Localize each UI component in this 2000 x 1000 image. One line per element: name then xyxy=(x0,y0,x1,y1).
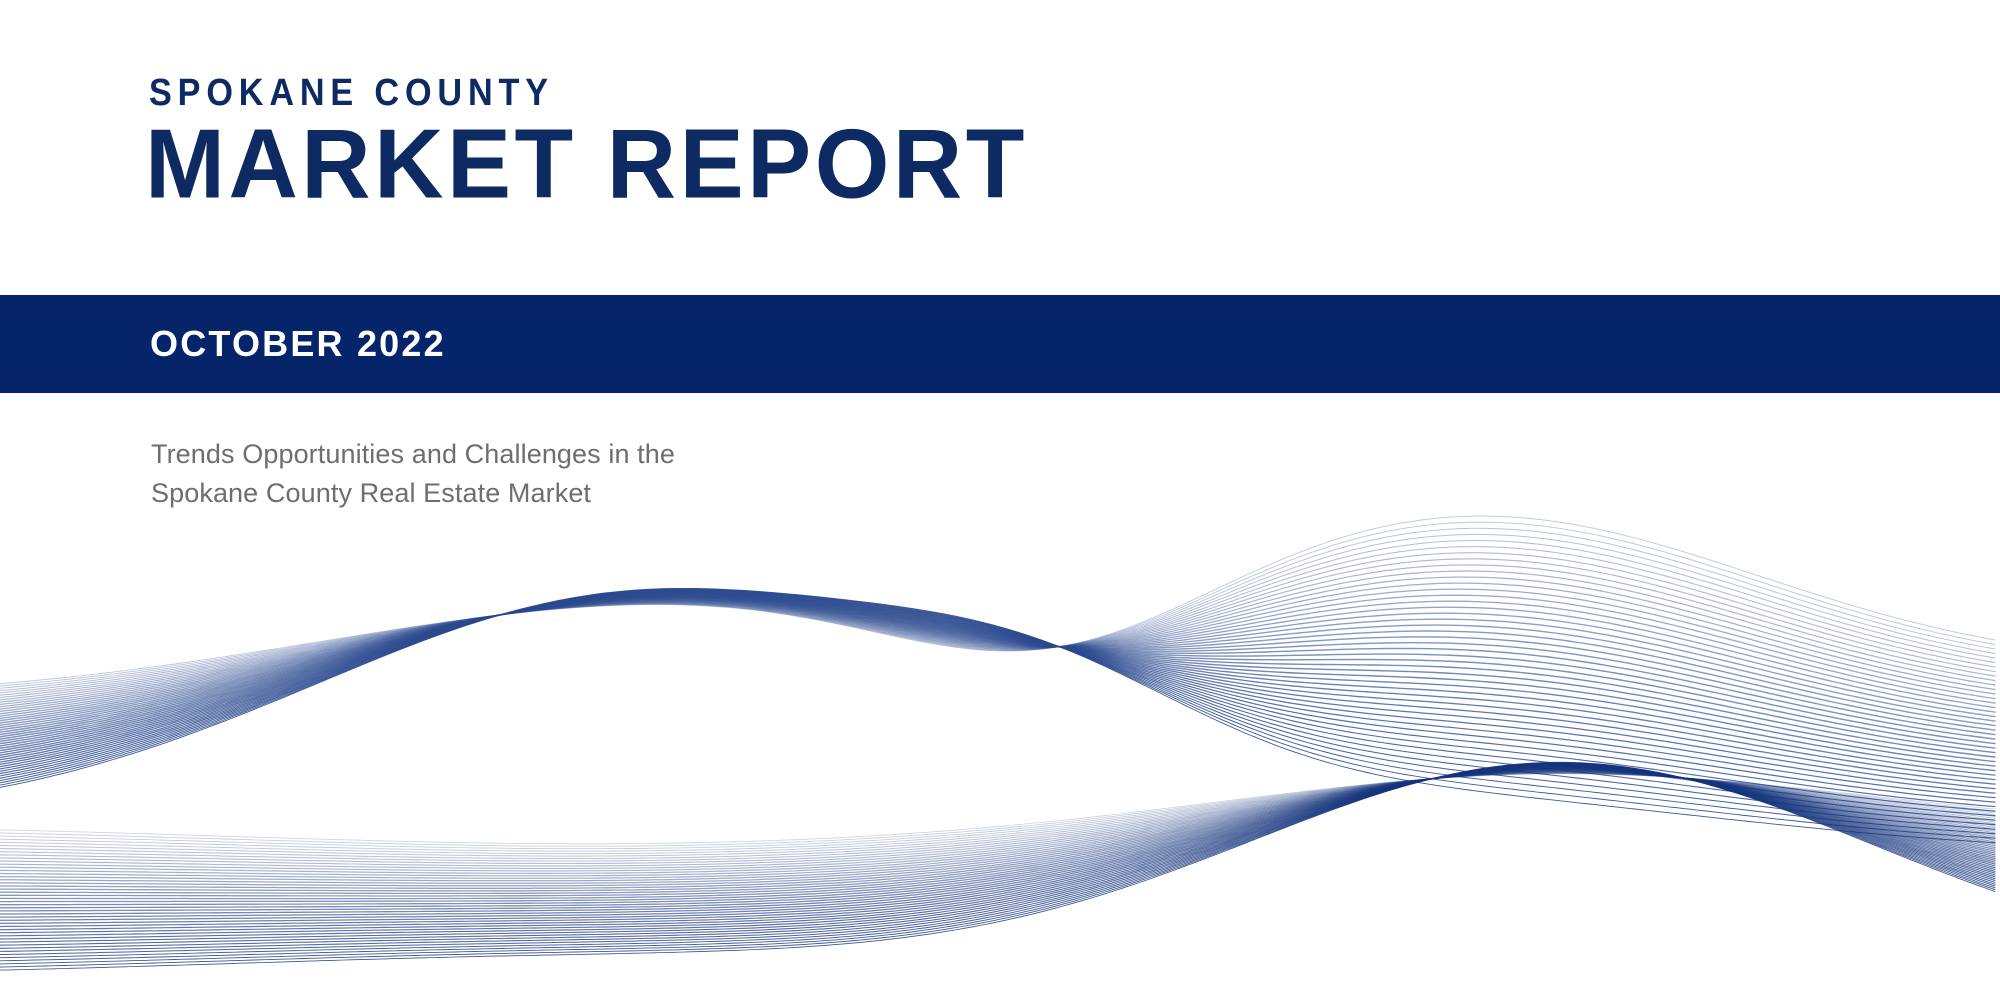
wave-line xyxy=(0,771,1995,865)
wave-line xyxy=(0,583,1995,709)
wave-line xyxy=(0,565,1995,702)
wave-line xyxy=(0,769,1995,885)
wave-line xyxy=(0,765,1995,939)
wave-line xyxy=(0,766,1995,927)
wave-line xyxy=(0,591,1995,806)
wave-line xyxy=(0,772,1995,861)
wave-line xyxy=(0,766,1995,923)
wave-line xyxy=(0,771,1995,868)
wave-line xyxy=(0,598,1995,725)
abstract-wave-lines-graphic xyxy=(0,430,2000,1000)
wave-line xyxy=(0,600,1995,716)
wave-line xyxy=(0,772,1995,858)
wave-line xyxy=(0,770,1995,881)
wave-line xyxy=(0,773,1995,849)
wave-line xyxy=(0,588,1995,842)
wave-line xyxy=(0,534,1995,690)
wave-line xyxy=(0,599,1995,723)
wave-line xyxy=(0,773,1995,851)
wave-line xyxy=(0,595,1995,762)
wave-line xyxy=(0,592,1995,793)
subtitle-line-1: Trends Opportunities and Challenges in t… xyxy=(151,435,911,474)
wave-line xyxy=(0,773,1995,857)
wave-line xyxy=(0,541,1995,693)
wave-line xyxy=(0,528,1995,688)
page-eyebrow: SPOKANE COUNTY xyxy=(149,74,554,112)
wave-line xyxy=(0,591,1995,811)
wave-line xyxy=(0,595,1995,767)
subtitle-line-2: Spokane County Real Estate Market xyxy=(151,474,911,513)
wave-line xyxy=(0,595,1995,714)
wave-line xyxy=(0,516,1995,684)
wave-line xyxy=(0,597,1995,739)
wave-line xyxy=(0,766,1995,930)
wave-line xyxy=(0,764,1995,955)
wave-line xyxy=(0,765,1995,943)
wave-line xyxy=(0,595,1995,757)
wave-line xyxy=(0,522,1995,686)
wave-line xyxy=(0,767,1995,914)
wave-line xyxy=(0,768,1995,896)
wave-line xyxy=(0,596,1995,748)
wave-line xyxy=(0,590,1995,825)
wave-line xyxy=(0,593,1995,789)
wave-line xyxy=(0,763,1995,967)
date-band-label: OCTOBER 2022 xyxy=(150,326,446,362)
wave-line xyxy=(0,764,1995,952)
wave-line xyxy=(0,577,1995,707)
cover-subtitle: Trends Opportunities and Challenges in t… xyxy=(151,435,911,513)
wave-line xyxy=(0,764,1995,948)
wave-line xyxy=(0,590,1995,820)
wave-line xyxy=(0,767,1995,907)
wave-line xyxy=(0,589,1995,838)
wave-line xyxy=(0,596,1995,743)
cover-header: SPOKANE COUNTY MARKET REPORT xyxy=(0,0,2000,295)
wave-line xyxy=(0,768,1995,898)
wave-line xyxy=(0,767,1995,918)
wave-line xyxy=(0,769,1995,891)
wave-line xyxy=(0,553,1995,698)
wave-line xyxy=(0,594,1995,775)
wave-line xyxy=(0,772,1995,864)
wave-line xyxy=(0,592,1995,798)
wave-line xyxy=(0,765,1995,936)
wave-line xyxy=(0,770,1995,884)
wave-line xyxy=(0,771,1995,871)
page-title: MARKET REPORT xyxy=(145,116,1028,214)
date-band: OCTOBER 2022 xyxy=(0,295,2000,393)
wave-line xyxy=(0,766,1995,920)
wave-line xyxy=(0,769,1995,888)
wave-line xyxy=(0,769,1995,894)
wave-line xyxy=(0,594,1995,770)
wave-line xyxy=(0,774,1995,847)
wave-line xyxy=(0,774,1995,844)
wave-line xyxy=(0,591,1995,816)
wave-line xyxy=(0,770,1995,878)
wave-line xyxy=(0,594,1995,780)
wave-line xyxy=(0,597,1995,735)
wave-line xyxy=(0,767,1995,911)
wave-line xyxy=(0,764,1995,945)
wave-line xyxy=(0,773,1995,854)
wave-line xyxy=(0,547,1995,696)
wave-line xyxy=(0,592,1995,802)
wave-line xyxy=(0,770,1995,875)
wave-line xyxy=(0,598,1995,731)
wave-line xyxy=(0,596,1995,753)
wave-line xyxy=(0,590,1995,830)
cover-page: SPOKANE COUNTY MARKET REPORT OCTOBER 202… xyxy=(0,0,2000,1000)
wave-line xyxy=(0,763,1995,961)
wave-line xyxy=(0,762,1995,970)
wave-line xyxy=(0,593,1995,784)
wave-line xyxy=(0,589,1995,834)
wave-line xyxy=(0,768,1995,905)
wave-line xyxy=(0,599,1995,718)
wave-line xyxy=(0,763,1995,964)
wave-line xyxy=(0,559,1995,700)
wave-line xyxy=(0,599,1995,721)
wave-line xyxy=(0,589,1995,711)
wave-line xyxy=(0,771,1995,874)
wave-line xyxy=(0,765,1995,932)
wave-line xyxy=(0,598,1995,728)
wave-line xyxy=(0,768,1995,902)
wave-line xyxy=(0,763,1995,957)
wave-line xyxy=(0,571,1995,704)
